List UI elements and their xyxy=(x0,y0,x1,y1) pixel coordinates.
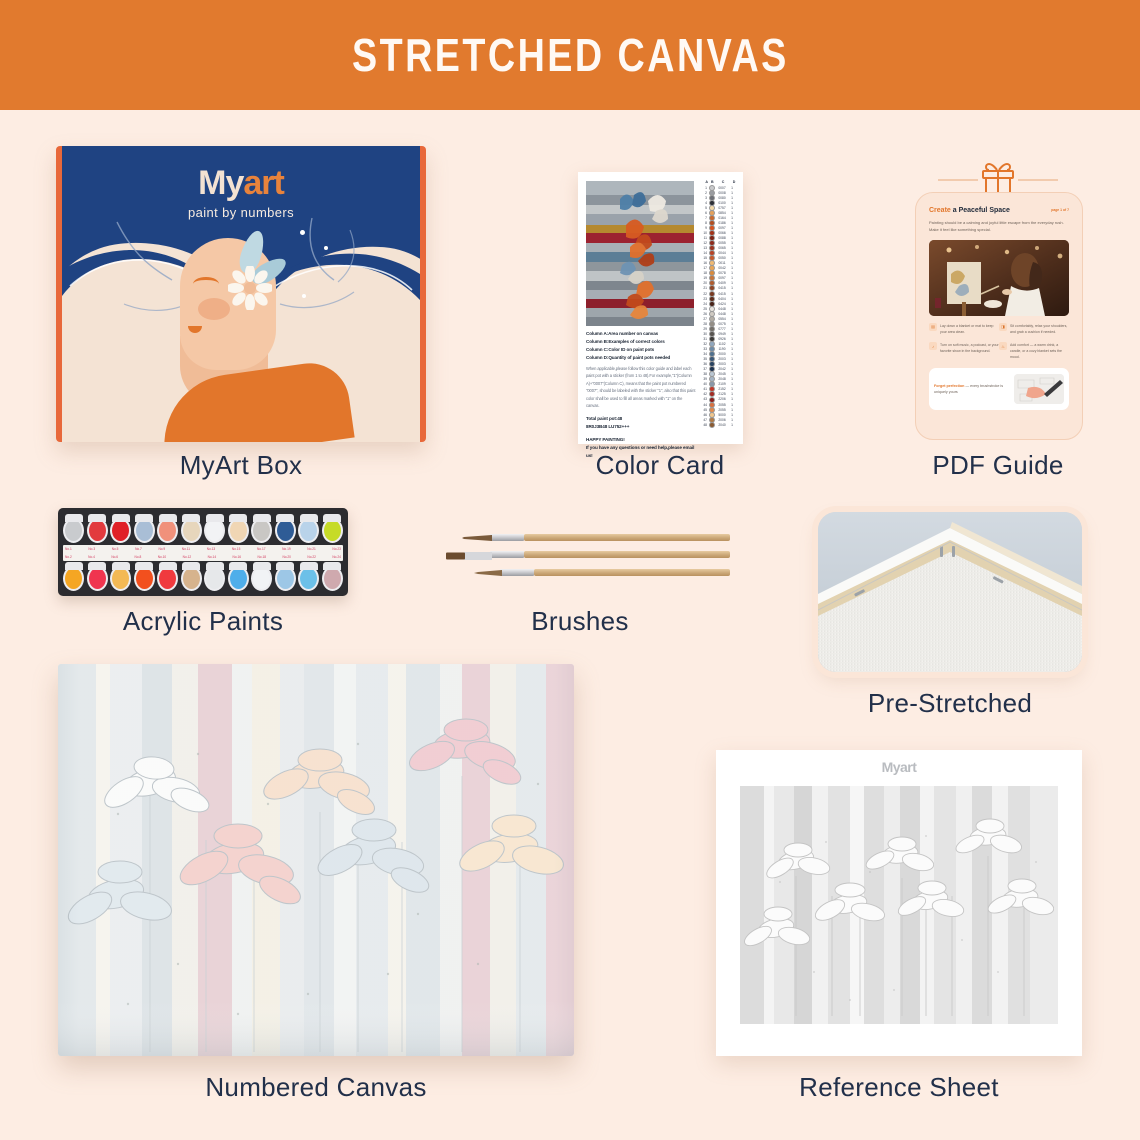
color-table-row: 900971 xyxy=(700,225,738,230)
color-table-row: 4650001 xyxy=(700,412,738,417)
color-table-row: 1300651 xyxy=(700,246,738,251)
sparkle-dot xyxy=(300,230,305,235)
area-number: 6 xyxy=(700,211,709,215)
paint-pot-label: No.24 xyxy=(332,555,341,559)
color-table-row: 801861 xyxy=(700,220,738,225)
color-table-row: 1200551 xyxy=(700,241,738,246)
color-table-row: 2204151 xyxy=(700,291,738,296)
area-number: 14 xyxy=(700,251,709,255)
paint-pot-top-8 xyxy=(228,514,249,544)
paint-pot-top-1 xyxy=(63,514,84,544)
quantity: 1 xyxy=(729,352,735,356)
color-table-row: 3311901 xyxy=(700,347,738,352)
caption-color-card: Color Card xyxy=(540,450,780,481)
paint-pot-label: No.11 xyxy=(182,547,190,551)
paint-pot-bottom-5 xyxy=(157,562,178,592)
box-logo: Myart paint by numbers xyxy=(62,164,420,220)
quantity: 1 xyxy=(729,327,735,331)
color-table-row: 4820401 xyxy=(700,422,738,427)
color-id: 0448 xyxy=(715,307,729,311)
color-table-row: 3720421 xyxy=(700,367,738,372)
quantity: 1 xyxy=(729,281,735,285)
color-card-image: A B C D 10007120008130080140100150757160… xyxy=(578,172,743,444)
quantity: 1 xyxy=(729,312,735,316)
paint-pot-top-5 xyxy=(157,514,178,544)
area-number: 46 xyxy=(700,413,709,417)
quantity: 1 xyxy=(729,251,735,255)
color-table-row: 2404241 xyxy=(700,301,738,306)
quantity: 1 xyxy=(729,302,735,306)
paint-pot-top-9 xyxy=(251,514,272,544)
area-number: 41 xyxy=(700,387,709,391)
pot-lid xyxy=(300,514,318,522)
quantity: 1 xyxy=(729,266,735,270)
area-number: 42 xyxy=(700,392,709,396)
color-card-artwork xyxy=(586,181,694,326)
color-id: 0854 xyxy=(715,211,729,215)
pdf-tip-text: Add comfort — a warm drink, a candle, or… xyxy=(1010,342,1069,360)
color-id: 0075 xyxy=(715,322,729,326)
area-number: 27 xyxy=(700,317,709,321)
color-table-row: 2104151 xyxy=(700,286,738,291)
color-legend-table: A B C D 10007120008130080140100150757160… xyxy=(700,180,738,427)
color-table-row: 3520031 xyxy=(700,357,738,362)
brush-fine-round xyxy=(462,534,730,541)
label-row-top: No.1No.3No.5No.7No.9No.11No.13No.15No.17… xyxy=(65,547,341,551)
numbered-canvas-image xyxy=(58,664,574,1056)
area-number: 5 xyxy=(700,206,709,210)
area-number: 19 xyxy=(700,276,709,280)
color-id: 0424 xyxy=(715,302,729,306)
quantity: 1 xyxy=(729,241,735,245)
paint-pot-bottom-1 xyxy=(63,562,84,592)
pot-lid xyxy=(276,514,294,522)
color-id: 0078 xyxy=(715,271,729,275)
pot-lid xyxy=(65,514,83,522)
happy-painting: HAPPY PAINTING! xyxy=(586,436,696,444)
color-table-row: 4322061 xyxy=(700,397,738,402)
color-id: 0042 xyxy=(715,266,729,270)
paint-pot-top-10 xyxy=(275,514,296,544)
pot-lid xyxy=(229,514,247,522)
color-table-row: 1600111 xyxy=(700,261,738,266)
paint-pot-label: No.10 xyxy=(158,555,167,559)
color-id: 0097 xyxy=(715,226,729,230)
color-id: 0404 xyxy=(715,297,729,301)
quantity: 1 xyxy=(729,246,735,250)
reference-sheet-logo: Myart xyxy=(716,750,1082,775)
color-table-row: 3820451 xyxy=(700,372,738,377)
caption-pre-stretched: Pre-Stretched xyxy=(818,688,1082,719)
quantity: 1 xyxy=(729,206,735,210)
paint-pot-label: No.17 xyxy=(257,547,266,551)
color-id: 2045 xyxy=(715,372,729,376)
color-id: 2109 xyxy=(715,382,729,386)
quantity: 1 xyxy=(729,226,735,230)
color-table-row: 4121521 xyxy=(700,387,738,392)
area-number: 12 xyxy=(700,241,709,245)
color-id: 2040 xyxy=(715,423,729,427)
quantity: 1 xyxy=(729,292,735,296)
pot-lid xyxy=(112,562,130,570)
color-id: 2055 xyxy=(715,408,729,412)
color-id: 2152 xyxy=(715,387,729,391)
area-number: 34 xyxy=(700,352,709,356)
music-icon: ♪ xyxy=(929,342,937,350)
pdf-content: Create a Peaceful Space page 1 of 7 Pain… xyxy=(929,207,1069,410)
color-table-row: 2004091 xyxy=(700,281,738,286)
paint-pot-top-2 xyxy=(87,514,108,544)
pdf-tip: ♨Add comfort — a warm drink, a candle, o… xyxy=(999,342,1069,360)
brush-ferrule xyxy=(500,569,534,576)
quantity: 1 xyxy=(729,382,735,386)
usage-note: When applicable,please follow this color… xyxy=(586,365,696,409)
drink-icon: ♨ xyxy=(999,342,1007,350)
quantity: 1 xyxy=(729,403,735,407)
paint-pot-label: No.12 xyxy=(183,555,192,559)
paint-pot-label: No.16 xyxy=(233,555,242,559)
brush-ferrule xyxy=(490,551,524,558)
pot-lid xyxy=(135,562,153,570)
divider-right xyxy=(1018,179,1058,181)
area-number: 38 xyxy=(700,372,709,376)
col-d: D xyxy=(731,180,737,184)
color-id: 0100 xyxy=(715,201,729,205)
pdf-page-label: page 1 of 7 xyxy=(1051,208,1069,212)
logo-art-text: art xyxy=(243,164,283,202)
area-number: 26 xyxy=(700,312,709,316)
canvas-artwork xyxy=(58,664,574,1056)
quantity: 1 xyxy=(729,423,735,427)
pdf-title-rest: a Peaceful Space xyxy=(951,207,1010,214)
pot-lid xyxy=(112,514,130,522)
paint-pot-label: No.7 xyxy=(135,547,142,551)
color-id: 0080 xyxy=(715,196,729,200)
color-table-row: 3211021 xyxy=(700,341,738,346)
area-number: 16 xyxy=(700,261,709,265)
pot-lid xyxy=(65,562,83,570)
paint-pot-bottom-2 xyxy=(87,562,108,592)
paint-pot-label: No.15 xyxy=(232,547,241,551)
quantity: 1 xyxy=(729,397,735,401)
brush-flat xyxy=(446,551,730,558)
pdf-note-text: Forget perfection — every brushstroke is… xyxy=(934,383,1011,396)
color-id: 0065 xyxy=(715,246,729,250)
quantity: 1 xyxy=(729,372,735,376)
color-table-row: 1900971 xyxy=(700,276,738,281)
pot-lid xyxy=(323,514,341,522)
area-number: 33 xyxy=(700,347,709,351)
area-number: 47 xyxy=(700,418,709,422)
color-table-row: 4021091 xyxy=(700,382,738,387)
color-id: 1190 xyxy=(715,347,729,351)
color-table-row: 507571 xyxy=(700,205,738,210)
pot-lid xyxy=(206,562,224,570)
paint-pot-bottom-3 xyxy=(110,562,131,592)
caption-myart-box: MyArt Box xyxy=(56,450,426,481)
color-table-row: 4221251 xyxy=(700,392,738,397)
color-table-row: 100071 xyxy=(700,185,738,190)
brush-handle xyxy=(534,569,730,576)
quantity: 1 xyxy=(729,362,735,366)
pdf-page: Create a Peaceful Space page 1 of 7 Pain… xyxy=(915,192,1083,440)
color-id: 0066 xyxy=(715,231,729,235)
quantity: 1 xyxy=(729,211,735,215)
area-number: 10 xyxy=(700,231,709,235)
pdf-tip: ♪Turn on soft music, a podcast, or your … xyxy=(929,342,999,360)
paint-pot-top-11 xyxy=(298,514,319,544)
area-number: 9 xyxy=(700,226,709,230)
paint-pot-label: No.1 xyxy=(65,547,72,551)
quantity: 1 xyxy=(729,216,735,220)
quantity: 1 xyxy=(729,191,735,195)
color-id: 2206 xyxy=(715,397,729,401)
logo-my-text: My xyxy=(198,164,243,202)
paint-pot-bottom-4 xyxy=(134,562,155,592)
area-number: 24 xyxy=(700,302,709,306)
pot-lid xyxy=(88,514,106,522)
quantity: 1 xyxy=(729,332,735,336)
page-title: STRETCHED CANVAS xyxy=(352,28,789,82)
pdf-tip-text: Turn on soft music, a podcast, or your f… xyxy=(940,342,999,360)
color-id: 0415 xyxy=(715,292,729,296)
quantity: 1 xyxy=(729,186,735,190)
paint-pot-label: No.8 xyxy=(135,555,142,559)
area-number: 20 xyxy=(700,281,709,285)
color-table-row: 1400441 xyxy=(700,251,738,256)
color-table-row: 3920481 xyxy=(700,377,738,382)
pot-lid xyxy=(253,562,271,570)
paint-pot-label: No.14 xyxy=(208,555,217,559)
pot-lid xyxy=(135,514,153,522)
color-table-row: 300801 xyxy=(700,195,738,200)
quantity: 1 xyxy=(729,367,735,371)
quantity: 1 xyxy=(729,286,735,290)
color-id: 2006 xyxy=(715,418,729,422)
color-id: 0757 xyxy=(715,206,729,210)
legend-line: Column D:Quantity of paint pots needed xyxy=(586,354,696,362)
color-id: 2000 xyxy=(715,352,729,356)
pdf-guide-image: Create a Peaceful Space page 1 of 7 Pain… xyxy=(912,160,1084,440)
canvas-corner-photo xyxy=(818,512,1082,672)
color-table-row: 4720061 xyxy=(700,417,738,422)
chair-icon: ◨ xyxy=(999,323,1007,331)
color-id: 0949 xyxy=(715,332,729,336)
quantity: 1 xyxy=(729,256,735,260)
paint-pot-label: No.21 xyxy=(307,547,316,551)
cheek-blush xyxy=(198,298,230,320)
box-front: Myart paint by numbers xyxy=(62,146,420,442)
reference-sheet-image: Myart xyxy=(716,750,1082,1056)
area-number: 35 xyxy=(700,357,709,361)
color-id: 0186 xyxy=(715,221,729,225)
color-table-row: 401001 xyxy=(700,200,738,205)
col-b: B xyxy=(711,180,715,184)
caption-numbered-canvas: Numbered Canvas xyxy=(58,1072,574,1103)
paint-pot-bottom-9 xyxy=(251,562,272,592)
area-number: 37 xyxy=(700,367,709,371)
color-card-text: Column A:Area number on canvas Column B:… xyxy=(586,330,696,460)
brush-handle xyxy=(524,534,730,541)
area-number: 32 xyxy=(700,342,709,346)
area-number: 1 xyxy=(700,186,709,190)
area-number: 23 xyxy=(700,297,709,301)
paint-pot-label: No.20 xyxy=(282,555,291,559)
area-number: 25 xyxy=(700,307,709,311)
area-number: 48 xyxy=(700,423,709,427)
paint-pot-row-bottom xyxy=(63,562,343,592)
pdf-tips-list: ▤Lay down a blanket or mat to keep your … xyxy=(929,323,1069,368)
brush-tip xyxy=(462,535,492,541)
color-table-row: 1000661 xyxy=(700,230,738,235)
pdf-title: Create a Peaceful Space page 1 of 7 xyxy=(929,207,1069,214)
color-id: 0011 xyxy=(715,261,729,265)
area-number: 13 xyxy=(700,246,709,250)
color-id: 0088 xyxy=(715,236,729,240)
color-table-row: 1500501 xyxy=(700,256,738,261)
paint-pot-bottom-11 xyxy=(298,562,319,592)
area-number: 17 xyxy=(700,266,709,270)
pot-lid xyxy=(323,562,341,570)
quantity: 1 xyxy=(729,392,735,396)
quantity: 1 xyxy=(729,297,735,301)
area-number: 21 xyxy=(700,286,709,290)
color-table-row: 2800751 xyxy=(700,321,738,326)
quantity: 1 xyxy=(729,337,735,341)
label-row-bottom: No.2No.4No.6No.8No.10No.12No.14No.16No.1… xyxy=(65,555,341,559)
pot-lid xyxy=(159,562,177,570)
brush-fine-detail xyxy=(474,569,730,576)
color-id: 0409 xyxy=(715,281,729,285)
pot-lid xyxy=(182,562,200,570)
area-number: 29 xyxy=(700,327,709,331)
area-number: 3 xyxy=(700,196,709,200)
paint-pot-label: No.2 xyxy=(65,555,72,559)
area-number: 7 xyxy=(700,216,709,220)
legend-line: Column A:Area number on canvas xyxy=(586,330,696,338)
quantity: 1 xyxy=(729,387,735,391)
quantity: 1 xyxy=(729,196,735,200)
divider-left xyxy=(938,179,978,181)
area-number: 30 xyxy=(700,332,709,336)
color-id: 0097 xyxy=(715,276,729,280)
color-id: 5000 xyxy=(715,413,729,417)
pdf-title-accent: Create xyxy=(929,207,951,214)
paint-pot-label: No.13 xyxy=(207,547,216,551)
quantity: 1 xyxy=(729,418,735,422)
pot-lid xyxy=(182,514,200,522)
caption-acrylic-paints: Acrylic Paints xyxy=(58,606,348,637)
area-number: 36 xyxy=(700,362,709,366)
brushes-image xyxy=(430,528,730,590)
closed-eye-icon xyxy=(193,277,219,291)
cloth-icon: ▤ xyxy=(929,323,937,331)
area-number: 45 xyxy=(700,408,709,412)
color-table-row: 3009491 xyxy=(700,331,738,336)
area-number: 8 xyxy=(700,221,709,225)
color-table-row: 1700421 xyxy=(700,266,738,271)
quantity: 1 xyxy=(729,201,735,205)
col-c: C xyxy=(716,180,730,184)
pdf-tip-text: Sit comfortably, relax your shoulders, a… xyxy=(1010,323,1069,335)
paint-pot-label: No.19 xyxy=(282,547,291,551)
quantity: 1 xyxy=(729,322,735,326)
paint-pot-bottom-6 xyxy=(181,562,202,592)
color-table-row: 4420551 xyxy=(700,402,738,407)
area-number: 2 xyxy=(700,191,709,195)
paint-pot-top-6 xyxy=(181,514,202,544)
col-a: A xyxy=(701,180,710,184)
color-table-row: 3420001 xyxy=(700,352,738,357)
paint-pot-top-12 xyxy=(322,514,343,544)
paint-pot-label: No.6 xyxy=(111,555,118,559)
area-number: 15 xyxy=(700,256,709,260)
area-number: 44 xyxy=(700,403,709,407)
paint-pot-label: No.3 xyxy=(88,547,95,551)
color-id: 2042 xyxy=(715,367,729,371)
legend-line: Column C:Color ID on paint pots xyxy=(586,346,696,354)
color-id: 0050 xyxy=(715,256,729,260)
paint-pot-bottom-8 xyxy=(228,562,249,592)
paint-pot-top-3 xyxy=(110,514,131,544)
color-id: 0554 xyxy=(715,317,729,321)
quantity: 1 xyxy=(729,342,735,346)
legend-line: Column B:Examples of correct colors xyxy=(586,338,696,346)
paint-pot-bottom-7 xyxy=(204,562,225,592)
pot-lid xyxy=(276,562,294,570)
box-tagline: paint by numbers xyxy=(62,205,420,220)
color-table-row: 200081 xyxy=(700,190,738,195)
quantity: 1 xyxy=(729,408,735,412)
color-table-row: 608541 xyxy=(700,210,738,215)
brush-handle xyxy=(524,551,730,558)
pdf-note-card: Forget perfection — every brushstroke is… xyxy=(929,368,1069,410)
color-id: 0007 xyxy=(715,186,729,190)
pdf-note-image xyxy=(1014,374,1064,404)
paint-pot-bottom-12 xyxy=(322,562,343,592)
pot-lid xyxy=(300,562,318,570)
quantity: 1 xyxy=(729,413,735,417)
color-id: 1102 xyxy=(715,342,729,346)
color-id: 0777 xyxy=(715,327,729,331)
quantity: 1 xyxy=(729,357,735,361)
pdf-tip-text: Lay down a blanket or mat to keep your a… xyxy=(940,323,999,335)
pre-stretched-image xyxy=(818,512,1082,672)
quantity: 1 xyxy=(729,347,735,351)
sparkle-dot xyxy=(302,294,306,298)
color-table-row: 1100881 xyxy=(700,235,738,240)
paint-pot-label: No.5 xyxy=(112,547,119,551)
color-id: 0055 xyxy=(715,241,729,245)
paint-pot-label: No.9 xyxy=(158,547,165,551)
paint-pot-top-7 xyxy=(204,514,225,544)
pot-lid xyxy=(206,514,224,522)
caption-brushes: Brushes xyxy=(430,606,730,637)
color-id: 2125 xyxy=(715,392,729,396)
area-number: 18 xyxy=(700,271,709,275)
color-table-row: 1800781 xyxy=(700,271,738,276)
myart-box-image: Myart paint by numbers xyxy=(56,146,426,442)
paint-label-strip: No.1No.3No.5No.7No.9No.11No.13No.15No.17… xyxy=(63,545,343,561)
color-id: 0415 xyxy=(715,286,729,290)
area-number: 4 xyxy=(700,201,709,205)
pot-lid xyxy=(229,562,247,570)
color-id: 2003 xyxy=(715,357,729,361)
color-id: 2003 xyxy=(715,362,729,366)
pot-lid xyxy=(88,562,106,570)
pdf-note-bold: Forget perfection xyxy=(934,384,964,388)
color-table-row: 3620031 xyxy=(700,362,738,367)
